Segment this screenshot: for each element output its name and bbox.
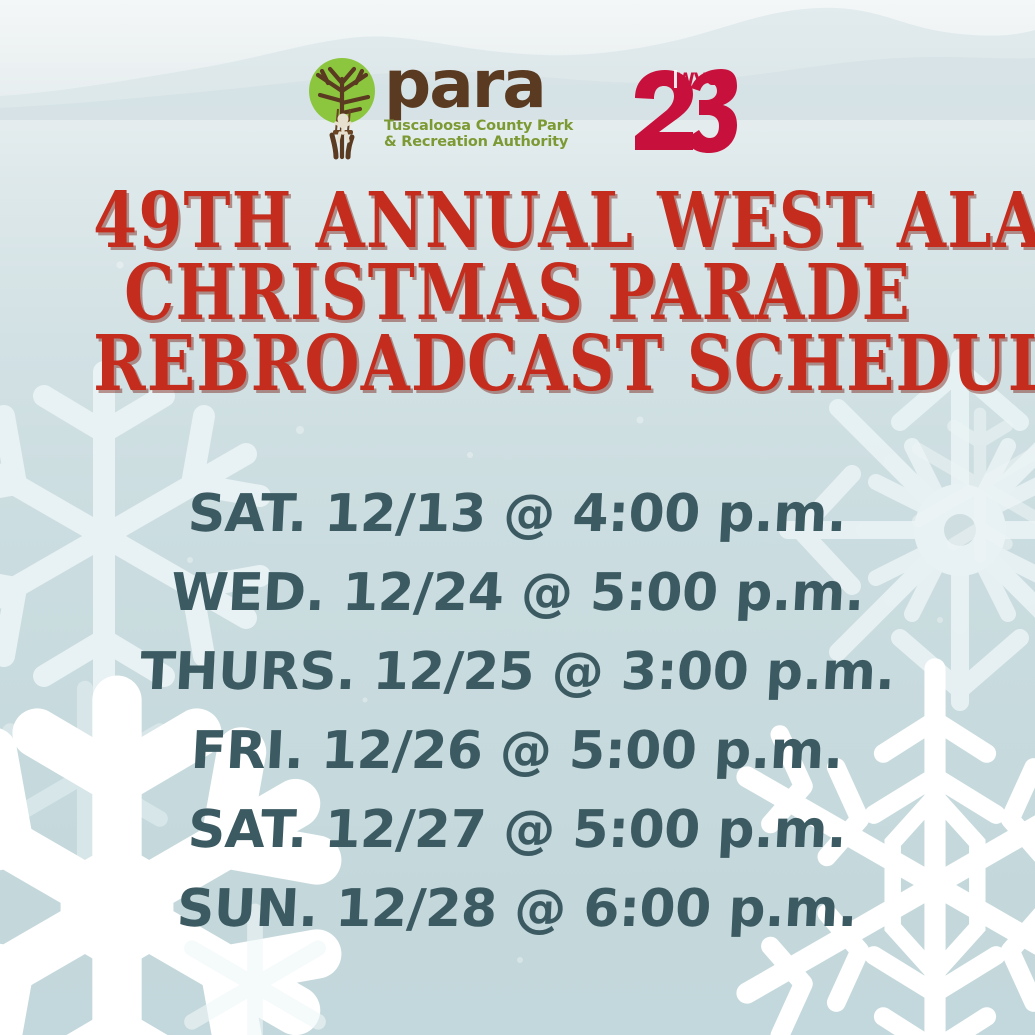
logo-row: para Tuscaloosa County Park & Recreation… <box>0 46 1035 171</box>
schedule-item: SAT. 12/13 @ 4:00 p.m. <box>186 474 849 553</box>
wvua-23-logo[interactable]: WVUA <box>629 64 737 156</box>
para-tagline-line2: & Recreation Authority <box>384 134 573 150</box>
para-wordmark: para <box>384 55 573 116</box>
schedule-item: THURS. 12/25 @ 3:00 p.m. <box>138 632 897 711</box>
schedule-item: FRI. 12/26 @ 5:00 p.m. <box>189 711 845 790</box>
schedule-item: WED. 12/24 @ 5:00 p.m. <box>169 553 866 632</box>
rebroadcast-schedule-list: SAT. 12/13 @ 4:00 p.m. WED. 12/24 @ 5:00… <box>0 474 1035 948</box>
para-tagline: Tuscaloosa County Park & Recreation Auth… <box>384 118 573 150</box>
wvua-callsign-text: WVUA <box>676 70 732 90</box>
para-logo[interactable]: para Tuscaloosa County Park & Recreation… <box>298 55 573 163</box>
para-tagline-line1: Tuscaloosa County Park <box>384 118 573 134</box>
tree-with-swing-icon <box>298 57 390 161</box>
page-title: 49TH ANNUAL WEST ALABAMA CHRISTMAS PARAD… <box>93 186 942 401</box>
schedule-item: SAT. 12/27 @ 5:00 p.m. <box>186 790 849 869</box>
para-wordmark-block: para Tuscaloosa County Park & Recreation… <box>384 55 573 151</box>
title-line-3: REBROADCAST SCHEDULE <box>93 329 942 401</box>
title-line-1: 49TH ANNUAL WEST ALABAMA <box>93 186 942 258</box>
parade-rebroadcast-poster: para Tuscaloosa County Park & Recreation… <box>0 0 1035 1035</box>
schedule-item: SUN. 12/28 @ 6:00 p.m. <box>175 869 859 948</box>
wvua-23-mark: WVUA <box>629 64 737 156</box>
